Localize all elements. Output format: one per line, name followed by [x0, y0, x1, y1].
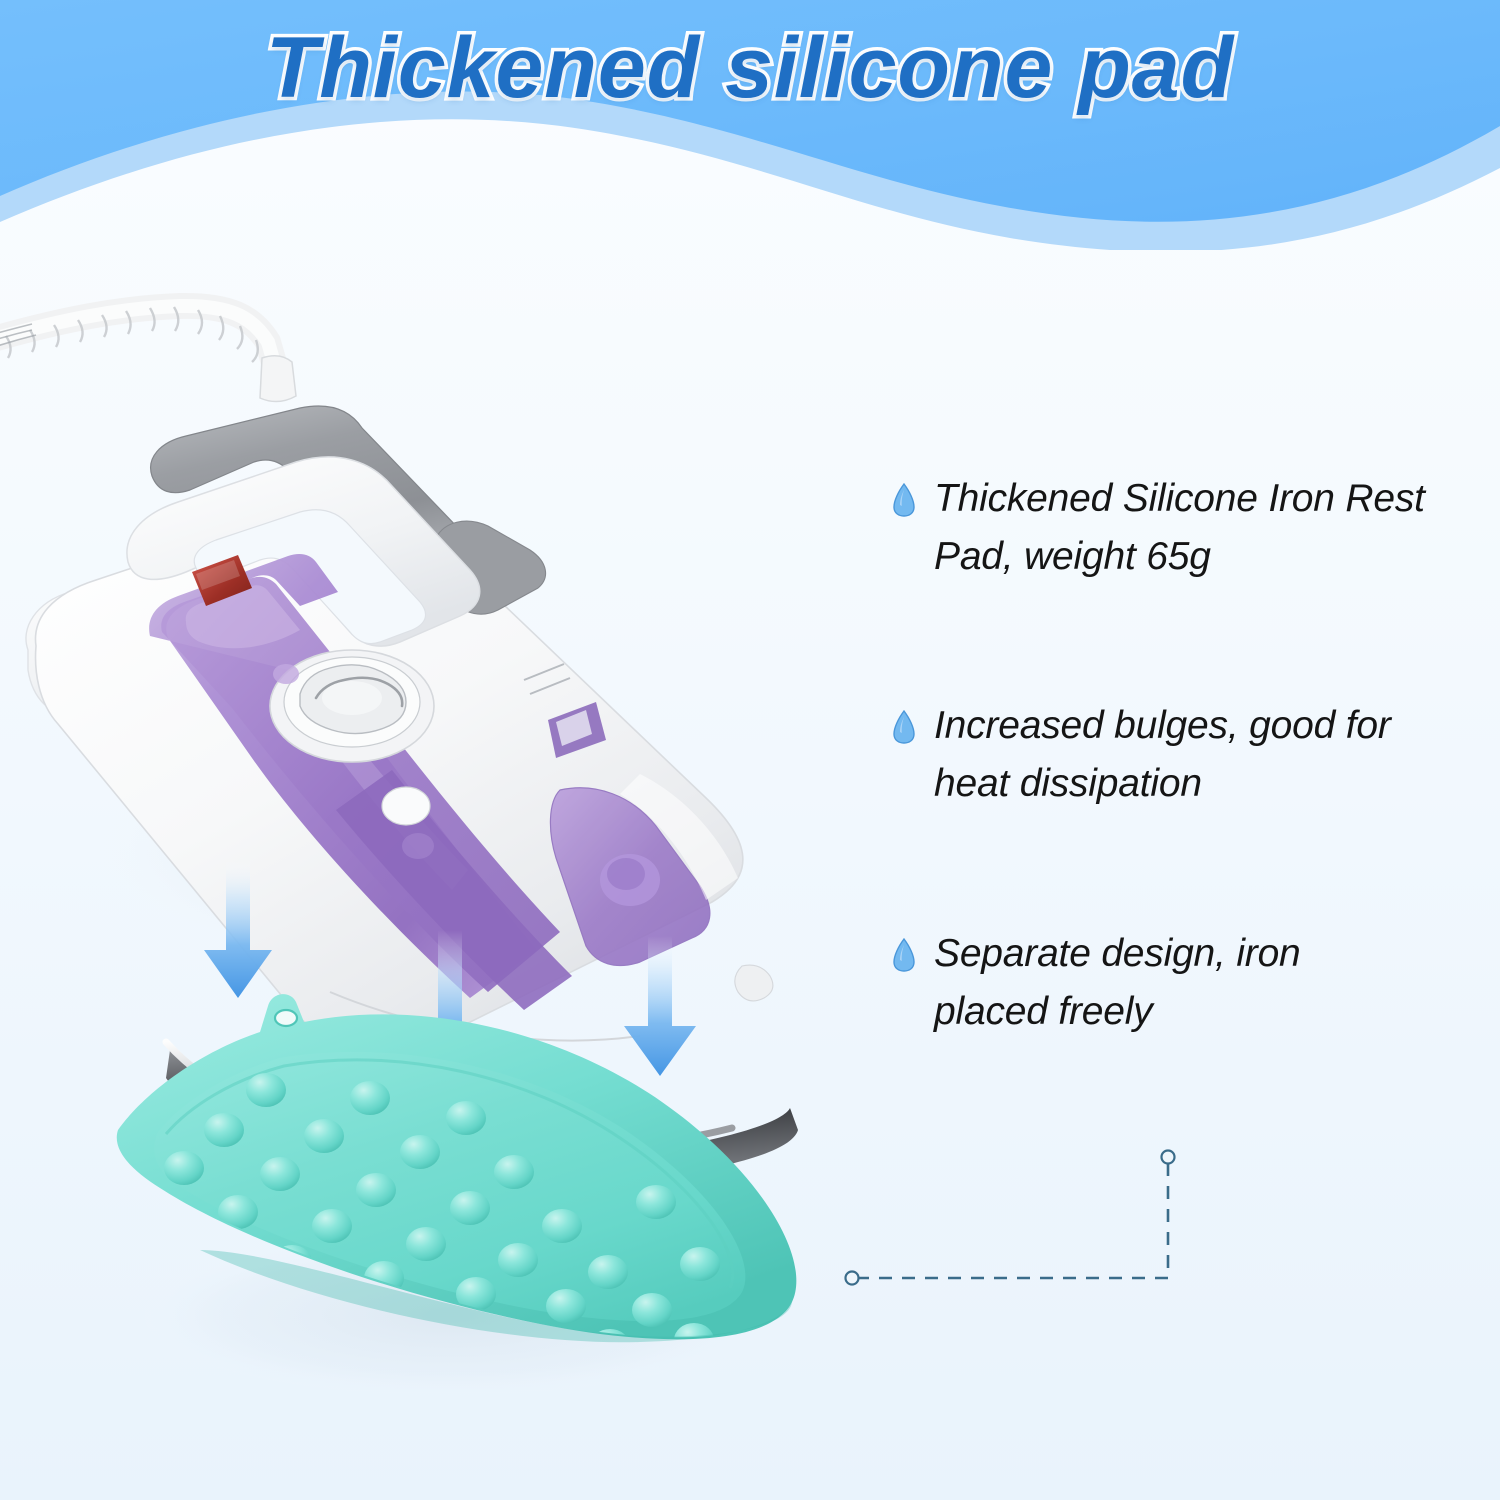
water-drop-icon — [893, 938, 915, 972]
water-drop-icon — [893, 483, 915, 517]
burst-button[interactable] — [402, 833, 434, 859]
product-infographic: Thickened silicone pad — [0, 0, 1500, 1500]
callout-dashed-line — [856, 1162, 1168, 1278]
water-drop-icon — [893, 710, 915, 744]
page-title: Thickened silicone pad — [0, 14, 1500, 122]
spray-button[interactable] — [382, 787, 430, 825]
callout-endpoint-left — [846, 1272, 859, 1285]
callout-endpoint-top — [1162, 1151, 1175, 1164]
dimension-callout — [830, 1130, 1210, 1310]
header-banner: Thickened silicone pad — [0, 0, 1500, 250]
feature-item: Separate design, iron placed freely — [893, 925, 1493, 1040]
front-window-cap-inner — [607, 858, 645, 890]
power-cord — [0, 306, 296, 402]
rear-tip-bump — [735, 965, 773, 1001]
feature-list: Thickened Silicone Iron Rest Pad, weight… — [893, 470, 1493, 1040]
product-stage — [0, 250, 880, 1500]
product-illustration — [0, 250, 880, 1500]
feature-text: Increased bulges, good for heat dissipat… — [934, 697, 1404, 812]
feature-item: Thickened Silicone Iron Rest Pad, weight… — [893, 470, 1493, 585]
feature-text: Thickened Silicone Iron Rest Pad, weight… — [934, 470, 1493, 585]
pad-hanging-hole — [275, 1010, 297, 1026]
feature-text: Separate design, iron placed freely — [934, 925, 1364, 1040]
tank-bubble — [273, 664, 299, 684]
feature-item: Increased bulges, good for heat dissipat… — [893, 697, 1493, 812]
